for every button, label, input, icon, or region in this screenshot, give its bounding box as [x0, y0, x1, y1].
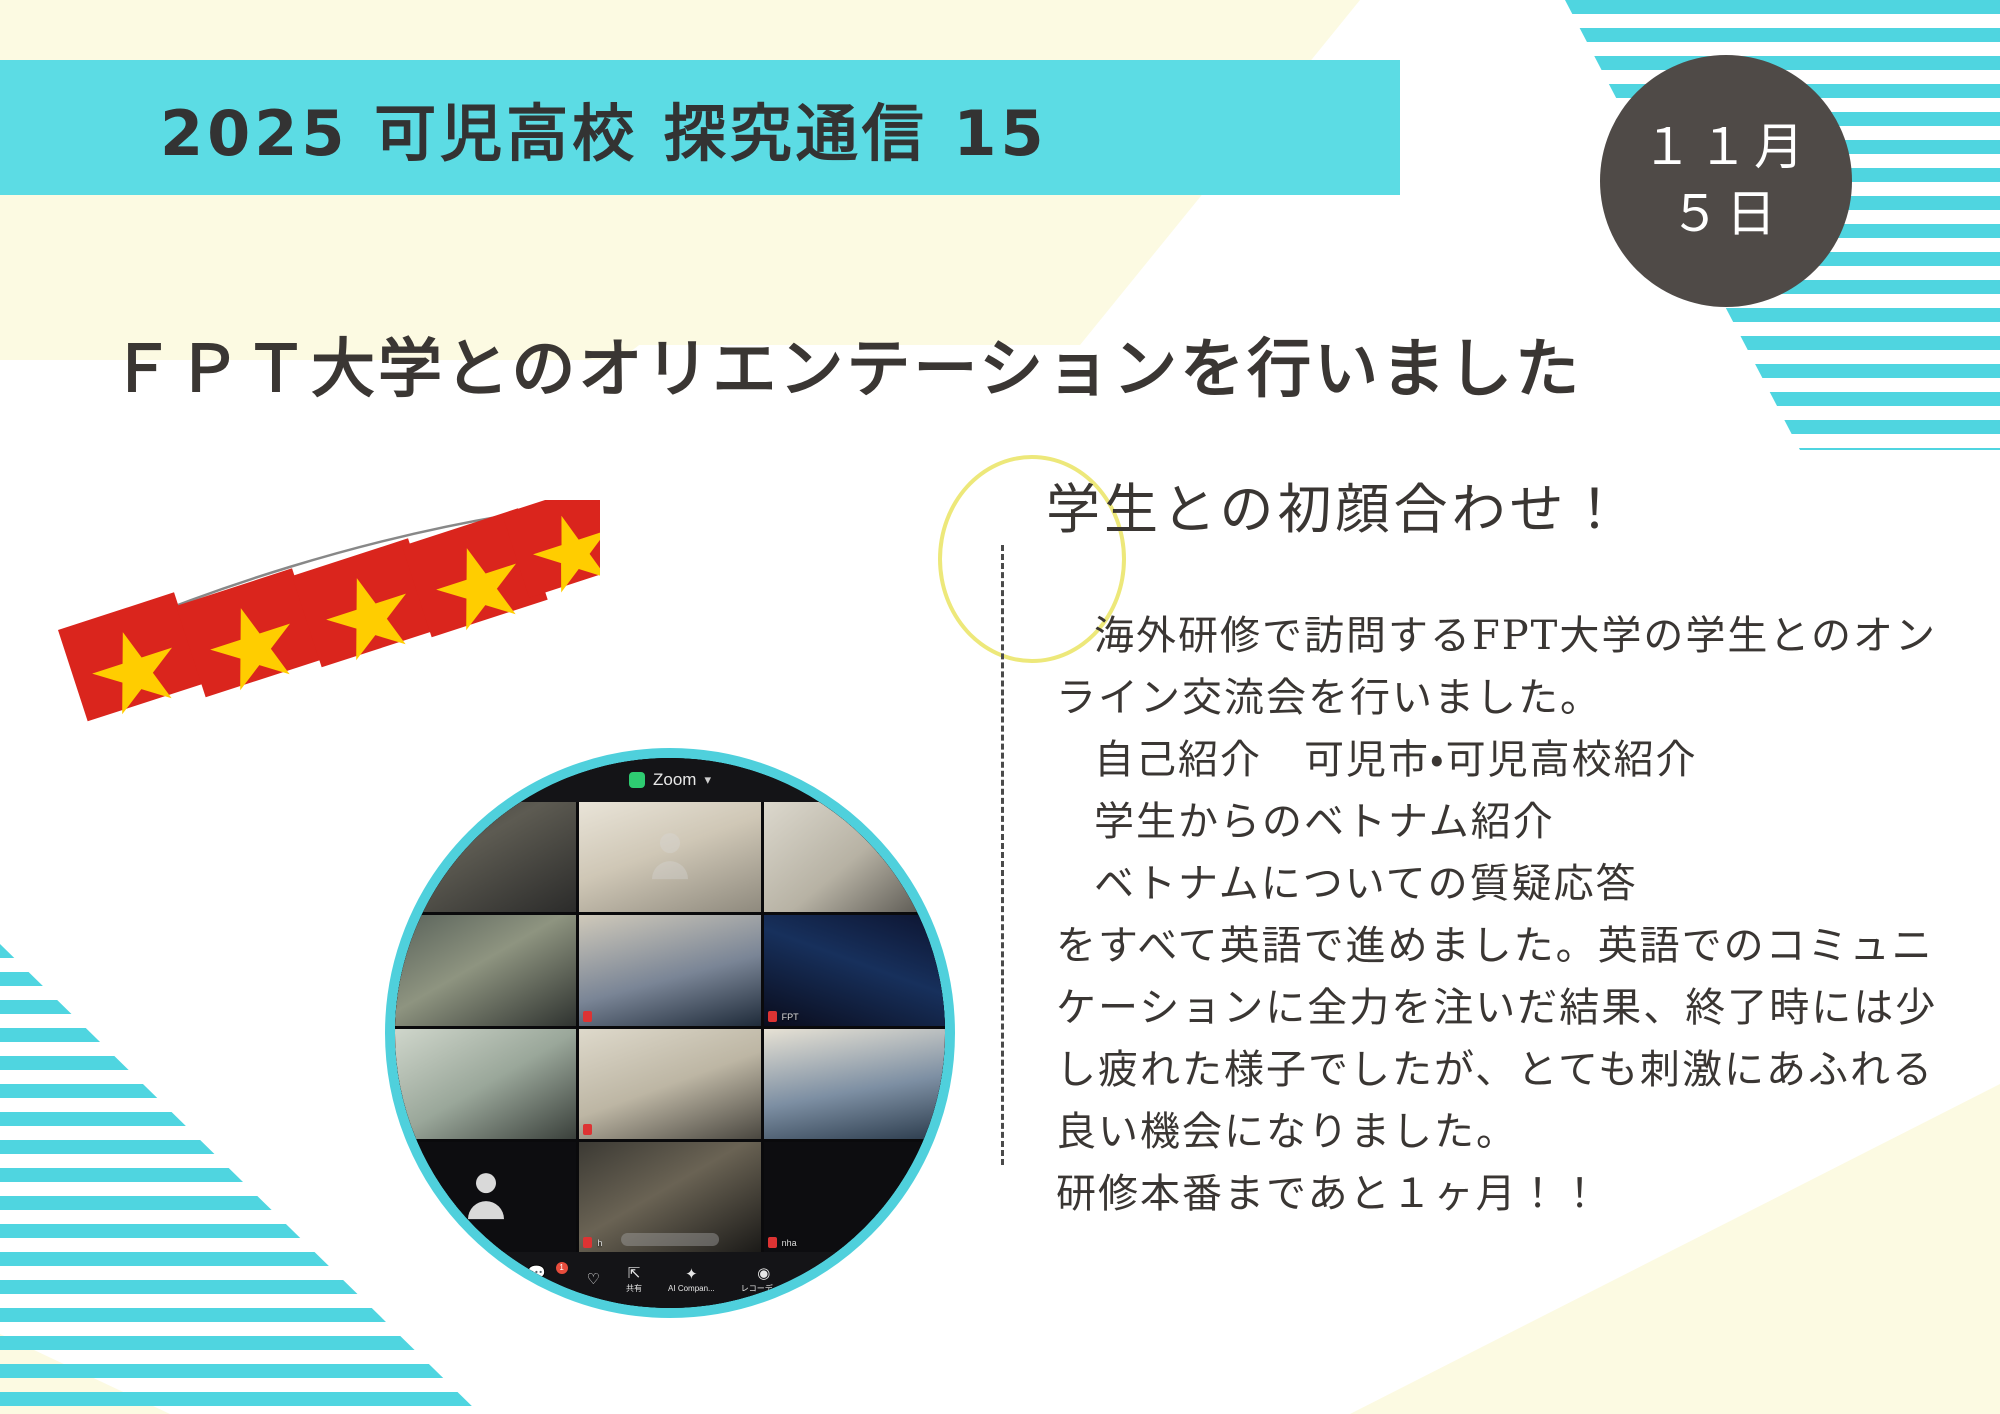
toolbar-share-button[interactable]: ⇱ 共有	[626, 1266, 642, 1294]
toolbar-label: リアクション	[513, 1283, 561, 1294]
article-lead: 学生との初顔合わせ！	[1046, 465, 1625, 544]
zoom-app-label: Zoom	[653, 770, 696, 790]
zoom-toolbar: 💬 1 リアクション ♡ ⇱ 共有 ✦ AI Compan... ◉	[395, 1252, 945, 1308]
bunting-svg	[40, 500, 600, 760]
toolbar-ai-companion-button[interactable]: ✦ AI Compan...	[668, 1267, 715, 1293]
toolbar-cc-button[interactable]: ⏏	[813, 1272, 827, 1289]
mute-icon	[583, 1124, 592, 1135]
article-line: をすべて英語で進めました。英語でのコミュニ	[1056, 915, 1936, 977]
mute-icon	[768, 1237, 777, 1248]
mute-icon	[399, 897, 408, 908]
mute-icon	[768, 1011, 777, 1022]
zoom-participant-grid: FPT LA	[395, 802, 945, 1252]
reaction-icon: 💬	[527, 1266, 546, 1281]
toolbar-label: 共有	[626, 1283, 642, 1294]
toolbar-reaction-button[interactable]: 💬 1 リアクション	[513, 1266, 561, 1294]
participant-tile[interactable]	[764, 802, 945, 912]
toolbar-heart-button[interactable]: ♡	[587, 1272, 600, 1289]
zoom-titlebar: Zoom ▾	[395, 758, 945, 802]
newsletter-poster: 2025 可児高校 探究通信 15 １１月 ５日 ＦＰＴ大学とのオリエンテーショ…	[0, 0, 2000, 1414]
reaction-badge: 1	[556, 1262, 568, 1274]
article-line: 自己紹介 可児市・可児高校紹介	[1056, 729, 1936, 791]
chevron-down-icon[interactable]: ▾	[704, 772, 711, 788]
article-line: 研修本番まであと１ヶ月！！	[1056, 1163, 1936, 1225]
toolbar-record-button[interactable]: ◉ レコーディ...	[741, 1266, 787, 1294]
participant-name: nha	[782, 1238, 797, 1248]
participant-tile[interactable]: nha	[764, 1142, 945, 1252]
article-body: 海外研修で訪問するFPT大学の学生とのオンライン交流会を行いました。自己紹介 可…	[1056, 605, 1936, 1225]
vertical-dashed-divider	[1001, 545, 1004, 1165]
article-line: し疲れた様子でしたが、とても刺激にあふれる	[1056, 1039, 1936, 1101]
cc-icon: ⏏	[813, 1272, 827, 1287]
zoom-window: Zoom ▾	[395, 758, 945, 1308]
participant-name: h	[597, 1238, 602, 1248]
title-band: 2025 可児高校 探究通信 15	[0, 60, 1400, 195]
record-icon: ◉	[757, 1266, 770, 1281]
vietnam-flag-bunting	[40, 500, 600, 760]
participant-tile[interactable]	[579, 1029, 760, 1139]
article-line: ライン交流会を行いました。	[1056, 667, 1936, 729]
article-line: 良い機会になりました。	[1056, 1101, 1936, 1163]
participant-tile[interactable]	[395, 1029, 576, 1139]
participant-name: FPT	[782, 1012, 799, 1022]
mute-icon	[583, 1011, 592, 1022]
page-subtitle: ＦＰＴ大学とのオリエンテーションを行いました	[110, 318, 1582, 410]
participant-tile[interactable]: FPT	[764, 915, 945, 1025]
heart-icon: ♡	[587, 1272, 600, 1287]
participant-tile[interactable]	[395, 802, 576, 912]
participant-tile[interactable]	[579, 802, 760, 912]
participant-tile[interactable]: h	[579, 1142, 760, 1252]
article-line: ベトナムについての質疑応答	[1056, 853, 1936, 915]
mute-icon	[583, 1237, 592, 1248]
participant-tile[interactable]	[764, 1029, 945, 1139]
toolbar-label: レコーディ...	[741, 1283, 787, 1294]
participant-tile[interactable]	[395, 915, 576, 1025]
ai-sparkle-icon: ✦	[685, 1267, 698, 1282]
page-title: 2025 可児高校 探究通信 15	[160, 83, 1048, 173]
date-badge: １１月 ５日	[1600, 55, 1852, 307]
toolbar-label: AI Compan...	[668, 1284, 715, 1293]
date-day: ５日	[1670, 181, 1782, 249]
shield-icon	[629, 772, 645, 788]
avatar	[463, 1173, 509, 1219]
date-month: １１月	[1642, 114, 1810, 182]
article-line: 学生からのベトナム紹介	[1056, 791, 1936, 853]
participant-tile[interactable]	[579, 915, 760, 1025]
zoom-meeting-screenshot: Zoom ▾	[385, 748, 955, 1318]
article-line: 海外研修で訪問するFPT大学の学生とのオン	[1056, 605, 1936, 667]
participant-name: LA	[400, 1238, 411, 1248]
participant-tile[interactable]: LA	[395, 1142, 576, 1252]
article-line: ケーションに全力を注いだ結果、終了時には少	[1056, 977, 1936, 1039]
share-icon: ⇱	[628, 1266, 641, 1281]
